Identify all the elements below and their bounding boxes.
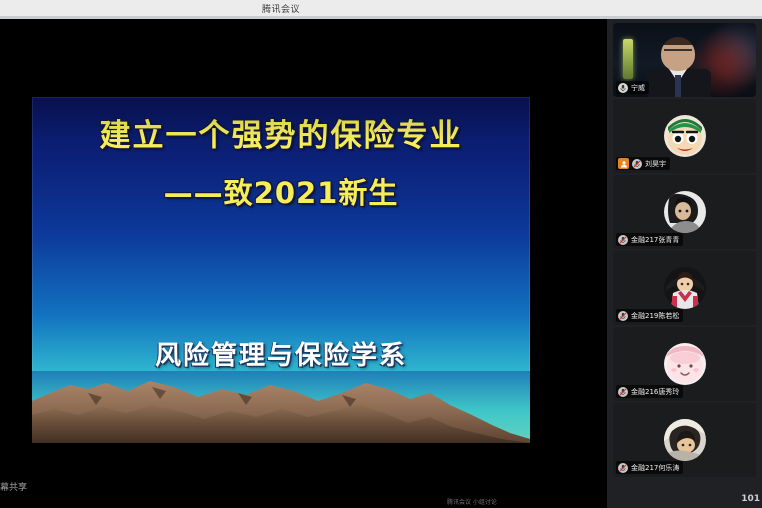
- bottom-hint-text: 腾讯会议 小组讨论: [447, 497, 497, 506]
- avatar: [664, 419, 706, 461]
- avatar: [664, 191, 706, 233]
- avatar: [664, 267, 706, 309]
- participant-strip[interactable]: 宁威: [607, 19, 762, 508]
- participant-tile[interactable]: 刘昊宇: [613, 99, 756, 173]
- pink-cartoon-avatar-icon: [664, 343, 706, 385]
- mic-muted-icon: [618, 235, 628, 245]
- window-titlebar: 腾讯会议: [0, 0, 762, 16]
- participant-name: 宁威: [631, 83, 645, 93]
- anime-avatar-icon: [664, 267, 706, 309]
- photo-avatar-icon: [664, 191, 706, 233]
- participant-tile[interactable]: 宁威: [613, 23, 756, 97]
- mic-muted-icon: [632, 159, 642, 169]
- participant-tile[interactable]: 金融217张青青: [613, 175, 756, 249]
- slide-title: 建立一个强势的保险专业: [32, 117, 530, 156]
- participant-name: 金融219陈若松: [631, 311, 679, 321]
- participant-name: 金融217何乐涛: [631, 463, 679, 473]
- participant-tile[interactable]: 金融216唐秀玲: [613, 327, 756, 401]
- shared-screen-stage[interactable]: 建立一个强势的保险专业 ——致2021新生 风险管理与保险学系: [0, 19, 607, 508]
- participant-nameplate: 金融217何乐涛: [616, 461, 683, 474]
- mic-muted-icon: [618, 463, 628, 473]
- corner-mark: 101: [741, 494, 760, 504]
- sketch-avatar-icon: [664, 419, 706, 461]
- window-title: 腾讯会议: [262, 2, 300, 15]
- avatar: [664, 343, 706, 385]
- participant-nameplate: 刘昊宇: [616, 157, 670, 170]
- mic-muted-icon: [618, 387, 628, 397]
- participant-nameplate: 宁威: [616, 81, 649, 94]
- person-icon: [620, 160, 628, 168]
- screen-share-status: 的屏幕共享: [0, 479, 33, 494]
- participant-nameplate: 金融217张青青: [616, 233, 683, 246]
- mountain-graphic: [32, 371, 530, 443]
- participant-name: 刘昊宇: [645, 159, 666, 169]
- slide-subtitle: ——致2021新生: [32, 170, 530, 212]
- person-glasses: [664, 49, 692, 56]
- host-badge-icon: [618, 158, 629, 169]
- mic-muted-icon: [618, 311, 628, 321]
- meeting-window: 腾讯会议 建立一个强势的保险专业 ——致2021新生 风险管理与保险学系: [0, 0, 762, 508]
- screen-share-status-text: 的屏幕共享: [0, 480, 27, 493]
- mic-icon: [618, 83, 628, 93]
- person-tie: [675, 75, 681, 97]
- slide-department: 风险管理与保险学系: [32, 335, 530, 372]
- participant-nameplate: 金融219陈若松: [616, 309, 683, 322]
- presentation-slide: 建立一个强势的保险专业 ——致2021新生 风险管理与保险学系: [32, 97, 530, 443]
- participant-tile[interactable]: 金融217何乐涛: [613, 403, 756, 477]
- slide-title-block: 建立一个强势的保险专业 ——致2021新生: [32, 117, 530, 212]
- avatar: [664, 115, 706, 157]
- participant-tile[interactable]: 金融219陈若松: [613, 251, 756, 325]
- cartoon-avatar-icon: [664, 115, 706, 157]
- background-light: [623, 39, 633, 79]
- participant-nameplate: 金融216唐秀玲: [616, 385, 683, 398]
- participant-name: 金融217张青青: [631, 235, 679, 245]
- participant-name: 金融216唐秀玲: [631, 387, 679, 397]
